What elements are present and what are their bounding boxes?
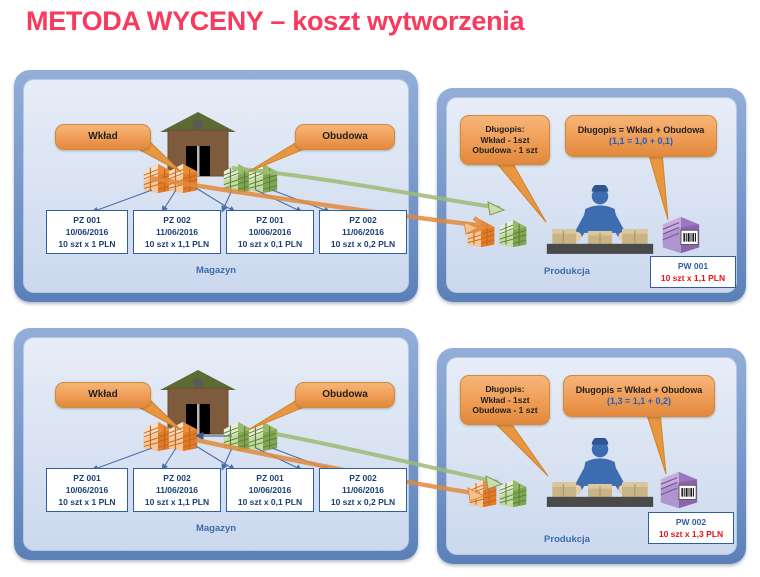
document-date: 11/06/2016 xyxy=(342,226,384,238)
pw-document-id: PW 002 xyxy=(676,516,706,528)
document-value: 10 szt x 1 PLN xyxy=(58,238,115,250)
pw-document-card[interactable]: PW 002 10 szt x 1,3 PLN xyxy=(648,512,734,544)
warehouse-panel-row1: Magazyn xyxy=(14,70,418,302)
callout-obudowa-label: Obudowa xyxy=(322,389,368,402)
callout-obudowa-label: Obudowa xyxy=(322,131,368,144)
document-id: PZ 001 xyxy=(256,472,283,484)
document-date: 11/06/2016 xyxy=(156,484,198,496)
document-value: 10 szt x 0,2 PLN xyxy=(331,496,395,508)
pw-document-id: PW 001 xyxy=(678,260,708,272)
document-card[interactable]: PZ 002 11/06/2016 10 szt x 1,1 PLN xyxy=(133,468,221,512)
document-id: PZ 002 xyxy=(349,214,376,226)
bom-line-2: Obudowa - 1 szt xyxy=(472,405,537,416)
bom-title: Długopis: xyxy=(485,384,524,395)
pw-document-value: 10 szt x 1,1 PLN xyxy=(661,272,725,284)
document-value: 10 szt x 0,2 PLN xyxy=(331,238,395,250)
document-value: 10 szt x 1,1 PLN xyxy=(145,496,209,508)
document-date: 11/06/2016 xyxy=(342,484,384,496)
document-value: 10 szt x 0,1 PLN xyxy=(238,496,302,508)
callout-bom-row1: Długopis: Wkład - 1szt Obudowa - 1 szt xyxy=(460,115,550,165)
bom-line-2: Obudowa - 1 szt xyxy=(472,145,537,156)
document-card[interactable]: PZ 001 10/06/2016 10 szt x 0,1 PLN xyxy=(226,210,314,254)
document-id: PZ 001 xyxy=(73,472,100,484)
document-card[interactable]: PZ 001 10/06/2016 10 szt x 1 PLN xyxy=(46,468,128,512)
warehouse-zone-label: Magazyn xyxy=(24,523,408,534)
callout-bom-row2: Długopis: Wkład - 1szt Obudowa - 1 szt xyxy=(460,375,550,425)
formula-line-1: Długopis = Wkład + Obudowa xyxy=(578,125,705,136)
slide: METODA WYCENY – koszt wytworzenia xyxy=(0,0,760,577)
production-zone-label: Produkcja xyxy=(507,266,627,277)
document-date: 10/06/2016 xyxy=(249,226,292,238)
warehouse-zone-label: Magazyn xyxy=(24,265,408,276)
document-card[interactable]: PZ 002 11/06/2016 10 szt x 1,1 PLN xyxy=(133,210,221,254)
document-value: 10 szt x 1,1 PLN xyxy=(145,238,209,250)
callout-obudowa-row2: Obudowa xyxy=(295,382,395,408)
bom-line-1: Wkład - 1szt xyxy=(480,395,529,406)
pw-document-value: 10 szt x 1,3 PLN xyxy=(659,528,723,540)
document-id: PZ 002 xyxy=(349,472,376,484)
pw-document-card[interactable]: PW 001 10 szt x 1,1 PLN xyxy=(650,256,736,288)
document-id: PZ 001 xyxy=(256,214,283,226)
callout-wklad-row2: Wkład xyxy=(55,382,151,408)
document-id: PZ 002 xyxy=(163,214,190,226)
formula-line-2: (1,1 = 1,0 + 0,1) xyxy=(609,136,673,147)
formula-line-2: (1,3 = 1,1 + 0,2) xyxy=(607,396,671,407)
document-date: 10/06/2016 xyxy=(249,484,292,496)
callout-wklad-label: Wkład xyxy=(88,131,117,144)
callout-wklad-label: Wkład xyxy=(88,389,117,402)
warehouse-panel-row2: Magazyn xyxy=(14,328,418,560)
callout-obudowa-row1: Obudowa xyxy=(295,124,395,150)
formula-line-1: Długopis = Wkład + Obudowa xyxy=(576,385,703,396)
document-id: PZ 002 xyxy=(163,472,190,484)
page-title: METODA WYCENY – koszt wytworzenia xyxy=(26,6,726,37)
document-card[interactable]: PZ 002 11/06/2016 10 szt x 0,2 PLN xyxy=(319,210,407,254)
document-id: PZ 001 xyxy=(73,214,100,226)
callout-wklad-row1: Wkład xyxy=(55,124,151,150)
document-value: 10 szt x 1 PLN xyxy=(58,496,115,508)
document-value: 10 szt x 0,1 PLN xyxy=(238,238,302,250)
bom-title: Długopis: xyxy=(485,124,524,135)
document-date: 10/06/2016 xyxy=(66,226,109,238)
document-card[interactable]: PZ 001 10/06/2016 10 szt x 0,1 PLN xyxy=(226,468,314,512)
document-card[interactable]: PZ 002 11/06/2016 10 szt x 0,2 PLN xyxy=(319,468,407,512)
bom-line-1: Wkład - 1szt xyxy=(480,135,529,146)
callout-formula-row1: Długopis = Wkład + Obudowa (1,1 = 1,0 + … xyxy=(565,115,717,157)
document-date: 11/06/2016 xyxy=(156,226,198,238)
callout-formula-row2: Długopis = Wkład + Obudowa (1,3 = 1,1 + … xyxy=(563,375,715,417)
document-date: 10/06/2016 xyxy=(66,484,109,496)
production-zone-label: Produkcja xyxy=(507,534,627,545)
document-card[interactable]: PZ 001 10/06/2016 10 szt x 1 PLN xyxy=(46,210,128,254)
